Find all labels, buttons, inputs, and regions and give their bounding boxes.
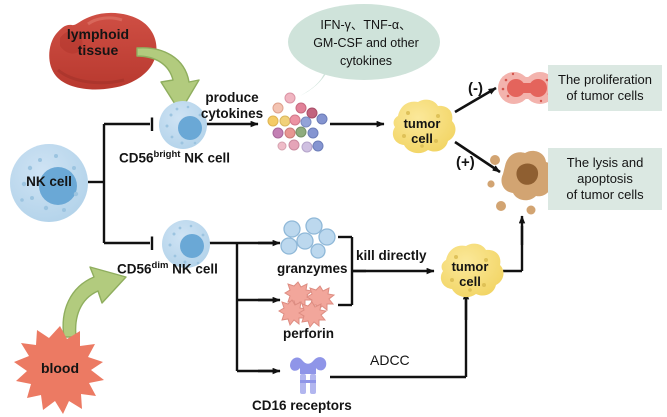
kill-directly-label: kill directly — [356, 248, 427, 264]
adcc-label: ADCC — [370, 352, 410, 368]
granzymes-label: granzymes — [277, 261, 348, 277]
granzyme-granules-icon — [280, 218, 340, 258]
produce-cytokines-label: produce cytokines — [196, 90, 268, 121]
outcome-lysis-box: The lysis and apoptosis of tumor cells — [548, 148, 662, 210]
blood-label: blood — [10, 360, 110, 376]
cytokine-bubble-text: IFN-γ、TNF-α、 GM-CSF and other cytokines — [292, 16, 440, 70]
nk-cell-label: NK cell — [8, 174, 90, 189]
cytokine-particles-icon — [268, 88, 334, 160]
cd16-receptor-icon — [286, 352, 330, 396]
perforin-stars-icon — [282, 280, 340, 320]
outcome-proliferation-box: The proliferation of tumor cells — [548, 65, 662, 111]
cd56-dim-nk-cell-label: CD56dim NK cell — [117, 261, 218, 277]
figure-canvas: lymphoid tissue NK cell CD56bright NK ce… — [0, 0, 667, 417]
tumor-cell-upper-label: tumor cell — [386, 116, 458, 146]
cd16-receptors-label: CD16 receptors — [252, 398, 352, 414]
cd56-bright-nk-cell-label: CD56bright NK cell — [119, 150, 230, 166]
tumor-cell-lower-label: tumor cell — [434, 259, 506, 289]
sign-negative-label: (-) — [468, 80, 483, 97]
perforin-label: perforin — [283, 326, 334, 342]
sign-positive-label: (+) — [456, 154, 475, 171]
